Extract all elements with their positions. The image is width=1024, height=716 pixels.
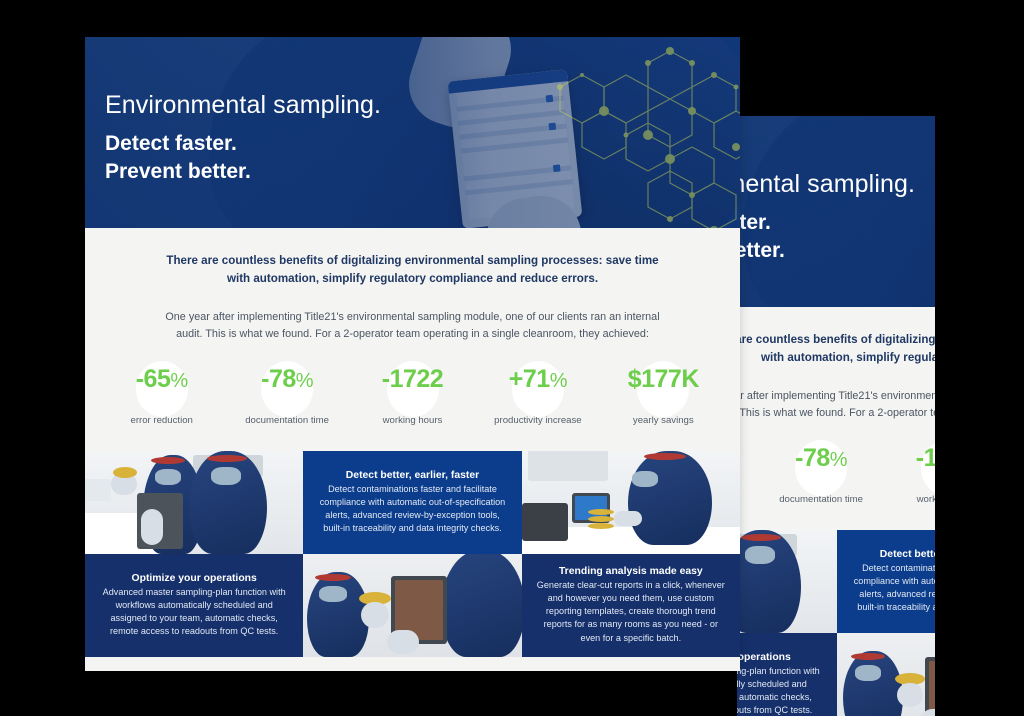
photo-incubator-plates (522, 451, 740, 554)
lab-photo-illustration (303, 554, 521, 657)
stat-yearly-savings: $177K yearly savings (601, 367, 726, 428)
stats-row: -65% error reduction -78% documentation … (93, 367, 732, 428)
stat-value: -1722 (382, 365, 443, 393)
card-body: Detect contaminations faster and facilit… (317, 483, 507, 536)
stat-caption: documentation time (224, 414, 349, 428)
stat-caption: working hours (350, 414, 475, 428)
hero-title: Environmental sampling. (105, 92, 381, 120)
card-trending-analysis: Trending analysis made easy Generate cle… (522, 554, 740, 657)
stat-documentation-time: -78% documentation time (224, 367, 349, 428)
stat-unit: % (296, 370, 313, 392)
stat-caption: productivity increase (475, 414, 600, 428)
stat-caption: error reduction (99, 414, 224, 428)
intro-paragraph: One year after implementing Title21's en… (153, 309, 673, 344)
card-title: Trending analysis made easy (536, 566, 726, 577)
card-body: Generate clear-cut reports in a click, w… (536, 579, 726, 645)
stat-caption: error reduction (737, 493, 758, 507)
hero-subtitle-line1-back: Detect faster. (737, 209, 915, 237)
card-detect-better: Detect better, earlier, faster Detect co… (303, 451, 521, 554)
intro-lede: There are countless benefits of digitali… (163, 252, 663, 288)
stat-value: -1722 (916, 444, 935, 472)
stats-row-back: -65% error reduction -78% documentation … (737, 446, 935, 507)
card-body: Advanced master sampling-plan function w… (737, 665, 823, 716)
card-title: Optimize your operations (99, 573, 289, 584)
photo-plate-scan-tablet (303, 554, 521, 657)
document-content: There are countless benefits of digitali… (85, 252, 740, 657)
intro-lede-back: There are countless benefits of digitali… (737, 331, 935, 367)
photo-operators-with-tablet-back (737, 530, 837, 633)
lab-photo-illustration (522, 451, 740, 554)
hero-text: Environmental sampling. Detect faster. P… (105, 92, 381, 186)
stat-value: -78 (261, 365, 296, 393)
card-body: Detect contaminations faster and facilit… (851, 562, 935, 615)
hero-banner-back: Environmental sampling. Detect faster. P… (737, 116, 935, 307)
stat-item-back: -78% documentation time (758, 446, 883, 507)
hexagon-network-icon (520, 37, 740, 228)
screenshot-canvas: Environmental sampling. Detect faster. P… (0, 0, 1024, 671)
card-title: Detect better, earlier, faster (317, 470, 507, 481)
intro-paragraph-back: One year after implementing Title21's en… (737, 388, 935, 423)
stat-value: -65 (136, 365, 171, 393)
hero-banner: Environmental sampling. Detect faster. P… (85, 37, 740, 228)
feature-grid: Detect better, earlier, faster Detect co… (85, 451, 740, 657)
hero-title-back: Environmental sampling. (737, 171, 915, 199)
stat-item-back: -1722 working hours (884, 446, 935, 507)
stat-unit: % (170, 370, 187, 392)
stat-caption: documentation time (758, 493, 883, 507)
stat-caption: working hours (884, 493, 935, 507)
stat-caption: yearly savings (601, 414, 726, 428)
stat-unit: % (550, 370, 567, 392)
stat-value: $177K (628, 365, 699, 393)
stat-item-back: -65% error reduction (737, 446, 758, 507)
hero-subtitle-line2: Prevent better. (105, 158, 381, 186)
document-body: Environmental sampling. Detect faster. P… (85, 37, 740, 657)
hero-subtitle-line1: Detect faster. (105, 130, 381, 158)
feature-grid-back: Detect better, earlier, faster Detect co… (737, 530, 935, 716)
card-optimize-operations: Optimize your operations Advanced master… (85, 554, 303, 657)
stat-value: -78 (795, 444, 830, 472)
hero-text-back: Environmental sampling. Detect faster. P… (737, 171, 915, 265)
card-detect-better-back: Detect better, earlier, faster Detect co… (837, 530, 935, 633)
stat-unit: % (830, 449, 847, 471)
document-body-back: Environmental sampling. Detect faster. P… (737, 116, 935, 716)
lab-photo-illustration (85, 451, 303, 554)
card-optimize-operations-back: Optimize your operations Advanced master… (737, 633, 837, 716)
document-content-back: There are countless benefits of digitali… (737, 331, 935, 716)
document-page-back[interactable]: Environmental sampling. Detect faster. P… (737, 116, 935, 716)
card-title: Detect better, earlier, faster (851, 549, 935, 560)
photo-plate-scan-tablet-back (837, 633, 935, 716)
card-title: Optimize your operations (737, 652, 823, 663)
card-body: Advanced master sampling-plan function w… (99, 586, 289, 639)
stat-working-hours: -1722 working hours (350, 367, 475, 428)
photo-operators-with-tablet (85, 451, 303, 554)
stat-value: +71 (509, 365, 550, 393)
stat-productivity-increase: +71% productivity increase (475, 367, 600, 428)
stat-error-reduction: -65% error reduction (99, 367, 224, 428)
document-page-front[interactable]: Environmental sampling. Detect faster. P… (85, 37, 740, 671)
hero-subtitle-line2-back: Prevent better. (737, 237, 915, 265)
